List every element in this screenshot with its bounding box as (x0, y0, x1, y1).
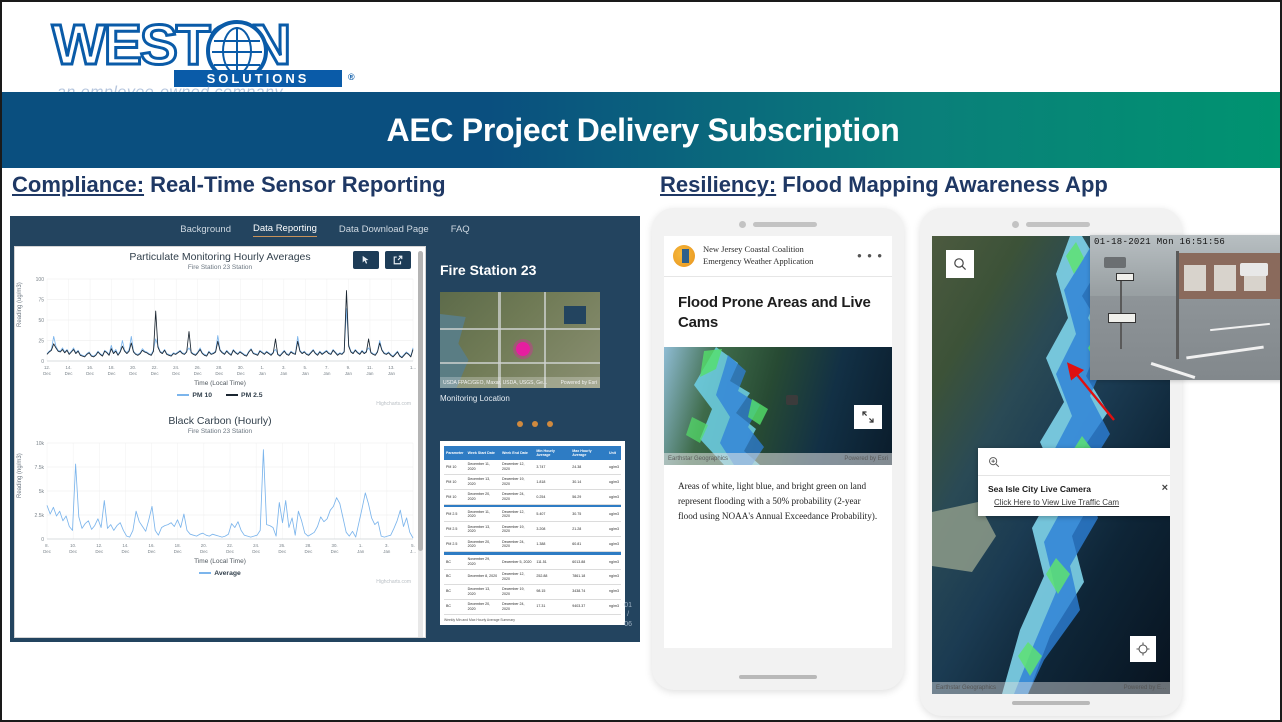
carousel-dots[interactable] (440, 421, 630, 427)
summary-table: ParameterWeek Start DateWeek End DateMin… (444, 446, 621, 615)
phone2-home-indicator (1012, 701, 1090, 705)
svg-text:Jan: Jan (259, 371, 267, 376)
app-logo-icon (673, 245, 695, 267)
close-icon[interactable]: × (1162, 483, 1168, 494)
svg-text:5k: 5k (39, 489, 45, 495)
svg-text:16.: 16. (87, 365, 93, 370)
svg-text:Dec: Dec (95, 549, 104, 554)
speaker-icon (753, 222, 817, 227)
table-col-header: Unit (607, 446, 621, 460)
chart1-credit: Highcharts.com (21, 401, 419, 407)
svg-text:1.: 1. (359, 543, 363, 548)
flood-map-image[interactable]: Earthstar Geographics Powered by Esri (664, 347, 892, 465)
svg-text:13.: 13. (388, 365, 394, 370)
minimap-attribution: USDA FPAC/GEO, Maxar, USDA, USGS, Ge... … (440, 377, 600, 388)
title-band: AEC Project Delivery Subscription (2, 92, 1282, 168)
svg-text:26.: 26. (279, 543, 285, 548)
svg-text:50: 50 (38, 318, 44, 324)
phone1-attr-left: Earthstar Geographics (668, 456, 728, 462)
app-bar: New Jersey Coastal Coalition Emergency W… (664, 236, 892, 277)
table-row: PM 10December 11, 2020December 12, 20203… (444, 460, 621, 474)
page-title: AEC Project Delivery Subscription (387, 112, 900, 149)
phone1-notch (739, 221, 817, 228)
open-external-button[interactable] (385, 251, 411, 269)
svg-text:7.5k: 7.5k (35, 465, 45, 471)
station-minimap[interactable]: USDA FPAC/GEO, Maxar, USDA, USGS, Ge... … (440, 292, 600, 388)
svg-text:14.: 14. (122, 543, 128, 548)
camera-popup: Sea Isle City Live Camera × Click Here t… (978, 448, 1170, 516)
svg-text:Jan: Jan (302, 371, 310, 376)
table-row: PM 10December 13, 2020December 19, 20201… (444, 474, 621, 489)
phone-mockup-1: New Jersey Coastal Coalition Emergency W… (652, 208, 904, 690)
legend-average[interactable]: Average (199, 570, 241, 577)
svg-text:Dec: Dec (174, 549, 183, 554)
svg-text:30.: 30. (238, 365, 244, 370)
svg-text:Dec: Dec (122, 549, 131, 554)
svg-text:Dec: Dec (200, 549, 209, 554)
chart-toolbar (353, 251, 411, 269)
cursor-icon (361, 255, 371, 265)
chart-particulate: Particulate Monitoring Hourly Averages F… (15, 247, 425, 407)
svg-text:3.: 3. (385, 543, 389, 548)
svg-text:Dec: Dec (194, 371, 203, 376)
app-title: New Jersey Coastal Coalition Emergency W… (703, 244, 813, 268)
dashboard-nav: Background Data Reporting Data Download … (10, 216, 640, 244)
svg-text:24.: 24. (173, 365, 179, 370)
table-row: BCDecember 20, 2020December 24, 202017.3… (444, 599, 621, 614)
svg-text:Dec: Dec (65, 371, 74, 376)
svg-text:14.: 14. (65, 365, 71, 370)
compliance-label: Compliance: (12, 172, 144, 197)
phone2-map-attribution: Earthstar Geographics Powered by E... (932, 682, 1170, 694)
chart2-title: Black Carbon (Hourly) (21, 415, 419, 427)
svg-text:8.: 8. (45, 543, 49, 548)
compliance-text: Real-Time Sensor Reporting (144, 172, 446, 197)
svg-text:22.: 22. (227, 543, 233, 548)
svg-text:16.: 16. (149, 543, 155, 548)
svg-text:20.: 20. (130, 365, 136, 370)
resiliency-label: Resiliency: (660, 172, 776, 197)
weston-logo: WESTON SOLUTIONS ® (52, 14, 342, 86)
svg-text:1.: 1. (260, 365, 264, 370)
crosshair-icon (1136, 642, 1150, 656)
phone1-attr-right: Powered by Esri (844, 456, 888, 462)
chart2-ylabel: Reading (ng/m3) (17, 453, 23, 498)
svg-text:18.: 18. (109, 365, 115, 370)
camera-icon (1012, 221, 1019, 228)
phone2-notch (1012, 221, 1090, 228)
minimap-inset (564, 306, 586, 324)
dashboard-sidebar: Fire Station 23 USDA FPAC/GEO, Maxar, US… (426, 244, 640, 642)
nav-item-data-reporting[interactable]: Data Reporting (253, 223, 317, 237)
svg-text:28.: 28. (216, 365, 222, 370)
popup-title: Sea Isle City Live Camera (988, 484, 1091, 494)
table-row: PM 2.5December 11, 2020December 12, 2020… (444, 507, 621, 521)
svg-text:Dec: Dec (129, 371, 138, 376)
svg-text:12.: 12. (96, 543, 102, 548)
svg-text:12.: 12. (44, 365, 50, 370)
svg-text:25: 25 (38, 339, 44, 345)
phone1-map-attribution: Earthstar Geographics Powered by Esri (664, 453, 892, 465)
app-title-line2: Emergency Weather Application (703, 256, 813, 268)
carousel-dot-3[interactable] (547, 421, 553, 427)
svg-text:Jan: Jan (366, 371, 374, 376)
table-col-header: Min Hourly Average (534, 446, 570, 460)
phone1-home-indicator (739, 675, 817, 679)
svg-text:7.: 7. (325, 365, 329, 370)
external-link-icon (393, 255, 403, 265)
chart1-xlabel: Time (Local Time) (21, 380, 419, 387)
svg-text:0: 0 (41, 537, 44, 543)
section-heading-resiliency: Resiliency: Flood Mapping Awareness App (660, 172, 1108, 198)
svg-text:1...: 1... (410, 365, 416, 370)
svg-text:J...: J... (410, 549, 416, 554)
svg-text:24.: 24. (253, 543, 259, 548)
camera-marker-icon[interactable] (786, 395, 798, 405)
slide: WESTON SOLUTIONS ® an employee-owned com… (0, 0, 1282, 722)
svg-text:Dec: Dec (69, 549, 78, 554)
table-col-header: Parameter (444, 446, 466, 460)
registered-mark: ® (348, 72, 355, 82)
chart1-plot: Reading (ug/m3) 025507510012.Dec14.Dec16… (21, 275, 419, 379)
map-locate-button[interactable] (1130, 636, 1156, 662)
scrollbar-thumb[interactable] (418, 251, 423, 551)
chart2-plot: Reading (ng/m3) 02.5k5k7.5k10k8.Dec10.De… (21, 439, 419, 557)
search-icon (953, 257, 967, 271)
map-expand-button[interactable] (854, 405, 882, 429)
table-col-header: Max Hourly Average (570, 446, 607, 460)
legend-pm10[interactable]: PM 10 (177, 392, 212, 399)
chart2-subtitle: Fire Station 23 Station (21, 428, 419, 435)
svg-text:Jan: Jan (388, 371, 396, 376)
app-body-text: Areas of white, light blue, and bright g… (664, 465, 892, 537)
nav-item-data-download[interactable]: Data Download Page (339, 224, 429, 237)
svg-text:Dec: Dec (237, 371, 246, 376)
dashboard-screenshot: Background Data Reporting Data Download … (10, 216, 640, 642)
svg-text:Dec: Dec (278, 549, 287, 554)
chart2-xlabel: Time (Local Time) (21, 558, 419, 565)
svg-text:2.5k: 2.5k (35, 513, 45, 519)
chart-black-carbon: Black Carbon (Hourly) Fire Station 23 St… (15, 411, 425, 585)
cam-timestamp: 01-18-2021 Mon 16:51:56 (1094, 237, 1225, 247)
select-tool-button[interactable] (353, 251, 379, 269)
minimap-attr-left: USDA FPAC/GEO, Maxar, USDA, USGS, Ge... (443, 380, 547, 386)
svg-text:5.: 5. (411, 543, 415, 548)
svg-text:Dec: Dec (108, 371, 117, 376)
table-row: PM 10December 20, 2020December 24, 20200… (444, 489, 621, 504)
page-current: 01 (624, 601, 632, 611)
expand-icon (862, 411, 874, 423)
camera-icon (739, 221, 746, 228)
carousel-dot-2[interactable] (532, 421, 538, 427)
phone1-screen: New Jersey Coastal Coalition Emergency W… (664, 236, 892, 648)
app-title-line1: New Jersey Coastal Coalition (703, 244, 813, 256)
speaker-icon (1026, 222, 1090, 227)
table-col-header: Week Start Date (466, 446, 500, 460)
traffic-cam-image: 01-18-2021 Mon 16:51:56 (1090, 235, 1282, 380)
svg-text:28.: 28. (305, 543, 311, 548)
svg-text:Jan: Jan (280, 371, 288, 376)
svg-text:30.: 30. (332, 543, 338, 548)
svg-text:3.: 3. (282, 365, 286, 370)
svg-text:Jan: Jan (357, 549, 365, 554)
page-total: 06 (624, 620, 632, 630)
location-pin-icon (516, 342, 530, 356)
svg-text:11.: 11. (367, 365, 373, 370)
svg-text:9.: 9. (347, 365, 351, 370)
station-title: Fire Station 23 (440, 262, 630, 278)
svg-text:10k: 10k (36, 441, 45, 447)
popup-toolbar (978, 448, 1170, 476)
page-divider: / (624, 610, 632, 620)
minimap-caption: Monitoring Location (440, 394, 630, 403)
popup-title-row: Sea Isle City Live Camera × (978, 476, 1170, 496)
logo-band: WESTON SOLUTIONS ® an employee-owned com… (2, 2, 1282, 92)
carousel-dot-1[interactable] (517, 421, 523, 427)
legend-pm25[interactable]: PM 2.5 (226, 392, 263, 399)
table-row: PM 2.5December 20, 2020December 24, 2020… (444, 537, 621, 552)
logo-wordmark: WESTON (52, 14, 342, 76)
table-row: BCDecember 13, 2020December 19, 202098.1… (444, 584, 621, 599)
minimap-attr-right: Powered by Esri (561, 380, 597, 386)
svg-text:Dec: Dec (226, 549, 235, 554)
svg-text:Dec: Dec (151, 371, 160, 376)
svg-text:Dec: Dec (43, 549, 52, 554)
section-heading-compliance: Compliance: Real-Time Sensor Reporting (12, 172, 446, 198)
chart1-legend: PM 10 PM 2.5 (21, 392, 419, 399)
table-col-header: Week End Date (500, 446, 534, 460)
table-footer: Weekly Min and Max Hourly Average Summar… (444, 618, 621, 622)
map-search-button[interactable] (946, 250, 974, 278)
svg-text:Dec: Dec (305, 549, 314, 554)
nav-item-faq[interactable]: FAQ (451, 224, 470, 237)
svg-text:Dec: Dec (148, 549, 157, 554)
resiliency-text: Flood Mapping Awareness App (776, 172, 1108, 197)
svg-text:Dec: Dec (215, 371, 224, 376)
svg-text:26.: 26. (195, 365, 201, 370)
svg-text:Dec: Dec (43, 371, 52, 376)
nav-item-background[interactable]: Background (180, 224, 231, 237)
svg-text:18.: 18. (175, 543, 181, 548)
svg-text:Dec: Dec (252, 549, 261, 554)
svg-text:Jan: Jan (383, 549, 391, 554)
svg-text:Jan: Jan (323, 371, 331, 376)
table-row: PM 2.5December 13, 2020December 19, 2020… (444, 522, 621, 537)
table-header-row: ParameterWeek Start DateWeek End DateMin… (444, 446, 621, 460)
zoom-in-icon[interactable] (988, 456, 1000, 468)
app-heading: Flood Prone Areas and Live Cams (664, 277, 892, 334)
chart2-credit: Highcharts.com (21, 579, 419, 585)
svg-text:5.: 5. (304, 365, 308, 370)
svg-text:22.: 22. (152, 365, 158, 370)
chart2-legend: Average (21, 570, 419, 577)
svg-text:10.: 10. (70, 543, 76, 548)
svg-text:20.: 20. (201, 543, 207, 548)
chart1-ylabel: Reading (ug/m3) (17, 282, 23, 327)
live-traffic-cam-link[interactable]: Click Here to View Live Traffic Cam (978, 496, 1170, 516)
svg-text:Jan: Jan (345, 371, 353, 376)
summary-table-wrap: ParameterWeek Start DateWeek End DateMin… (440, 441, 625, 625)
charts-column: Particulate Monitoring Hourly Averages F… (14, 246, 426, 638)
svg-text:75: 75 (38, 298, 44, 304)
overflow-menu-icon[interactable]: • • • (857, 248, 883, 263)
table-row: BCDecember 8, 2020December 12, 2020252.8… (444, 569, 621, 584)
svg-text:Dec: Dec (331, 549, 340, 554)
phone2-attr-right: Powered by E... (1124, 685, 1166, 691)
svg-text:Dec: Dec (86, 371, 95, 376)
page-indicator: 01 / 06 (624, 601, 632, 630)
phone2-attr-left: Earthstar Geographics (936, 685, 996, 691)
table-row: BCNovember 29, 2020December 5, 2020111.5… (444, 555, 621, 569)
svg-text:Dec: Dec (172, 371, 181, 376)
svg-text:100: 100 (36, 277, 45, 283)
